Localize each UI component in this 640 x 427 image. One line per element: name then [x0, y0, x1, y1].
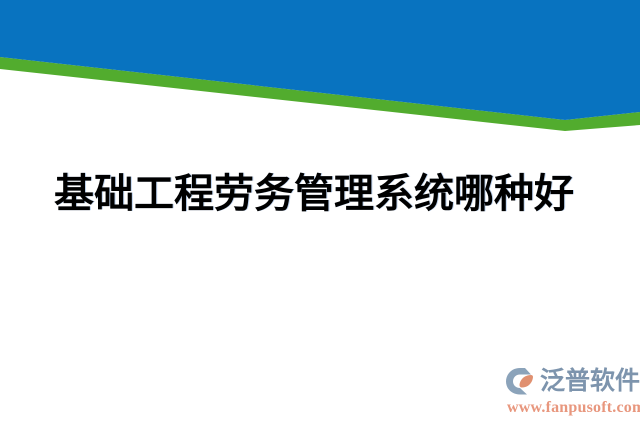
logo-wordmark: 泛普软件 [540, 366, 640, 396]
logo-url: www.fanpusoft.com [507, 399, 640, 417]
title-area: 基础工程劳务管理系统哪种好 [0, 168, 640, 230]
page-title: 基础工程劳务管理系统哪种好 [54, 168, 594, 220]
banner [0, 0, 640, 140]
fanpu-leaf-icon [505, 366, 537, 396]
brand-logo[interactable]: 泛普软件 www.fanpusoft.com [505, 364, 635, 420]
logo-row: 泛普软件 [505, 364, 640, 398]
page-root: 基础工程劳务管理系统哪种好 泛普软件 www.fanpusoft.com [0, 0, 640, 427]
banner-graphic [0, 0, 640, 140]
